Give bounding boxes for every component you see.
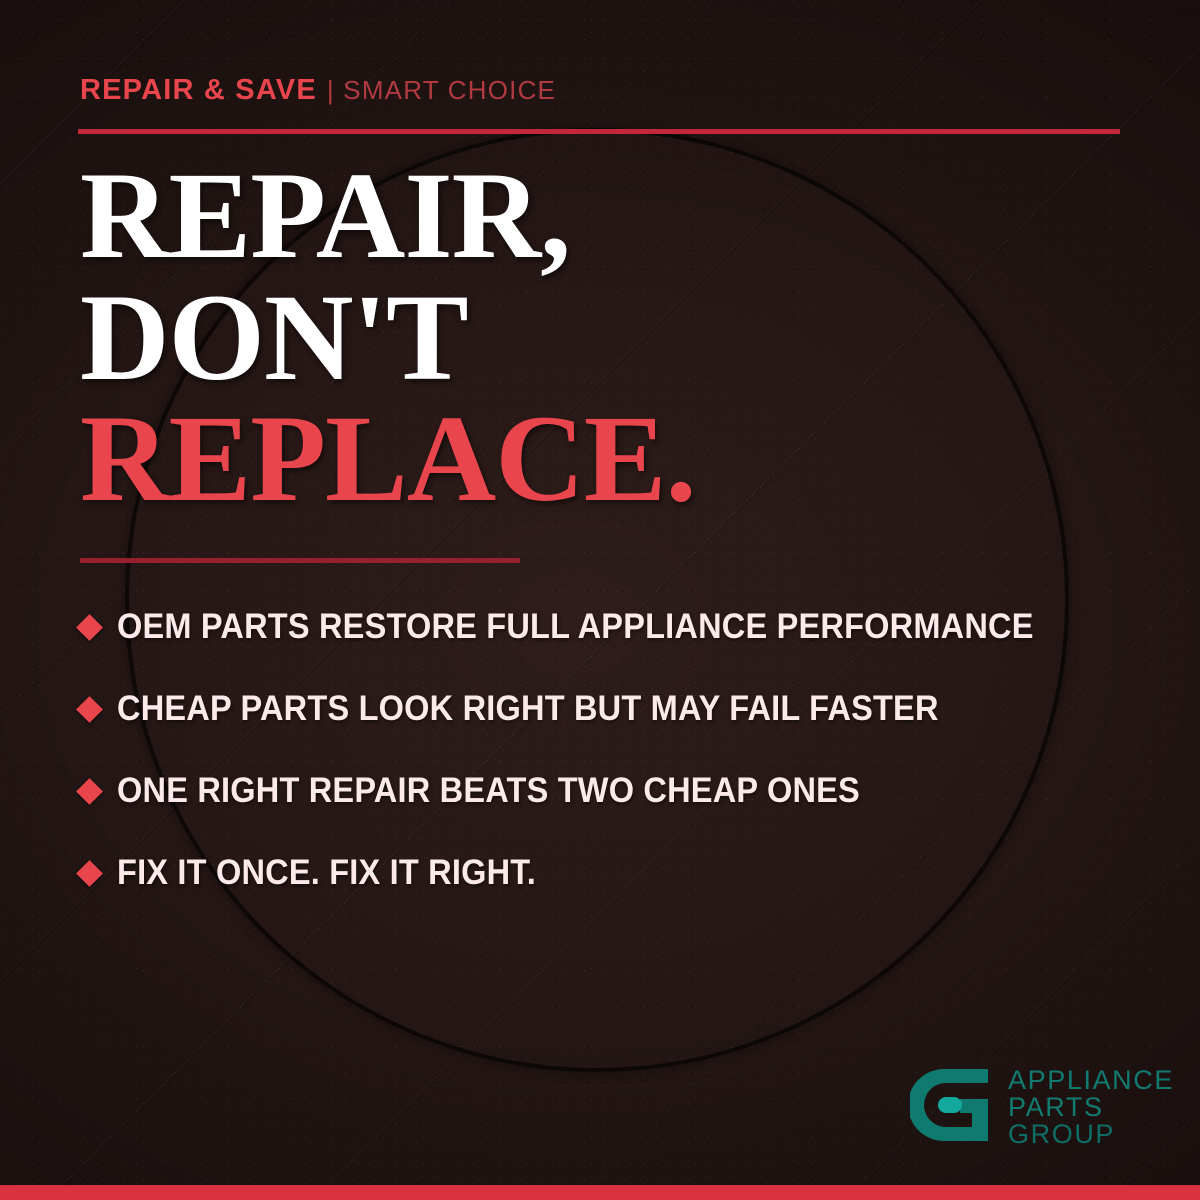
- list-item: OEM PARTS RESTORE FULL APPLIANCE PERFORM…: [80, 586, 1150, 668]
- list-item-label: FIX IT ONCE. FIX IT RIGHT.: [117, 853, 536, 893]
- eyebrow-header: REPAIR & SAVE | SMART CHOICE: [80, 74, 556, 107]
- diamond-bullet-icon: [76, 778, 103, 805]
- list-item: ONE RIGHT REPAIR BEATS TWO CHEAP ONES: [80, 750, 1150, 832]
- brand-wordmark: APPLIANCE PARTS GROUP: [1008, 1067, 1174, 1148]
- list-item-label: ONE RIGHT REPAIR BEATS TWO CHEAP ONES: [117, 771, 860, 811]
- brand-word-appliance: APPLIANCE: [1008, 1067, 1174, 1094]
- headline-line-2: DON'T: [80, 277, 696, 399]
- list-item-label: CHEAP PARTS LOOK RIGHT BUT MAY FAIL FAST…: [117, 689, 939, 729]
- brand-word-group: GROUP: [1008, 1121, 1174, 1148]
- benefits-list: OEM PARTS RESTORE FULL APPLIANCE PERFORM…: [80, 586, 1150, 914]
- g-monogram-icon: [910, 1063, 994, 1152]
- headline-line-1: REPAIR,: [80, 155, 696, 277]
- header-divider-rule: [78, 129, 1120, 134]
- eyebrow-sub-text: | SMART CHOICE: [327, 75, 556, 106]
- list-item: FIX IT ONCE. FIX IT RIGHT.: [80, 832, 1150, 914]
- page-title: REPAIR, DON'T REPLACE.: [80, 155, 696, 520]
- list-item: CHEAP PARTS LOOK RIGHT BUT MAY FAIL FAST…: [80, 668, 1150, 750]
- brand-word-parts: PARTS: [1008, 1094, 1174, 1121]
- diamond-bullet-icon: [76, 614, 103, 641]
- list-item-label: OEM PARTS RESTORE FULL APPLIANCE PERFORM…: [117, 607, 1034, 647]
- headline-line-3: REPLACE.: [80, 398, 696, 520]
- poster-canvas: REPAIR & SAVE | SMART CHOICE REPAIR, DON…: [0, 0, 1200, 1200]
- headline-divider-rule: [80, 558, 520, 563]
- brand-logo: APPLIANCE PARTS GROUP: [910, 1063, 1174, 1152]
- eyebrow-main-text: REPAIR & SAVE: [80, 74, 317, 107]
- bottom-accent-bar: [0, 1185, 1200, 1200]
- diamond-bullet-icon: [76, 860, 103, 887]
- diamond-bullet-icon: [76, 696, 103, 723]
